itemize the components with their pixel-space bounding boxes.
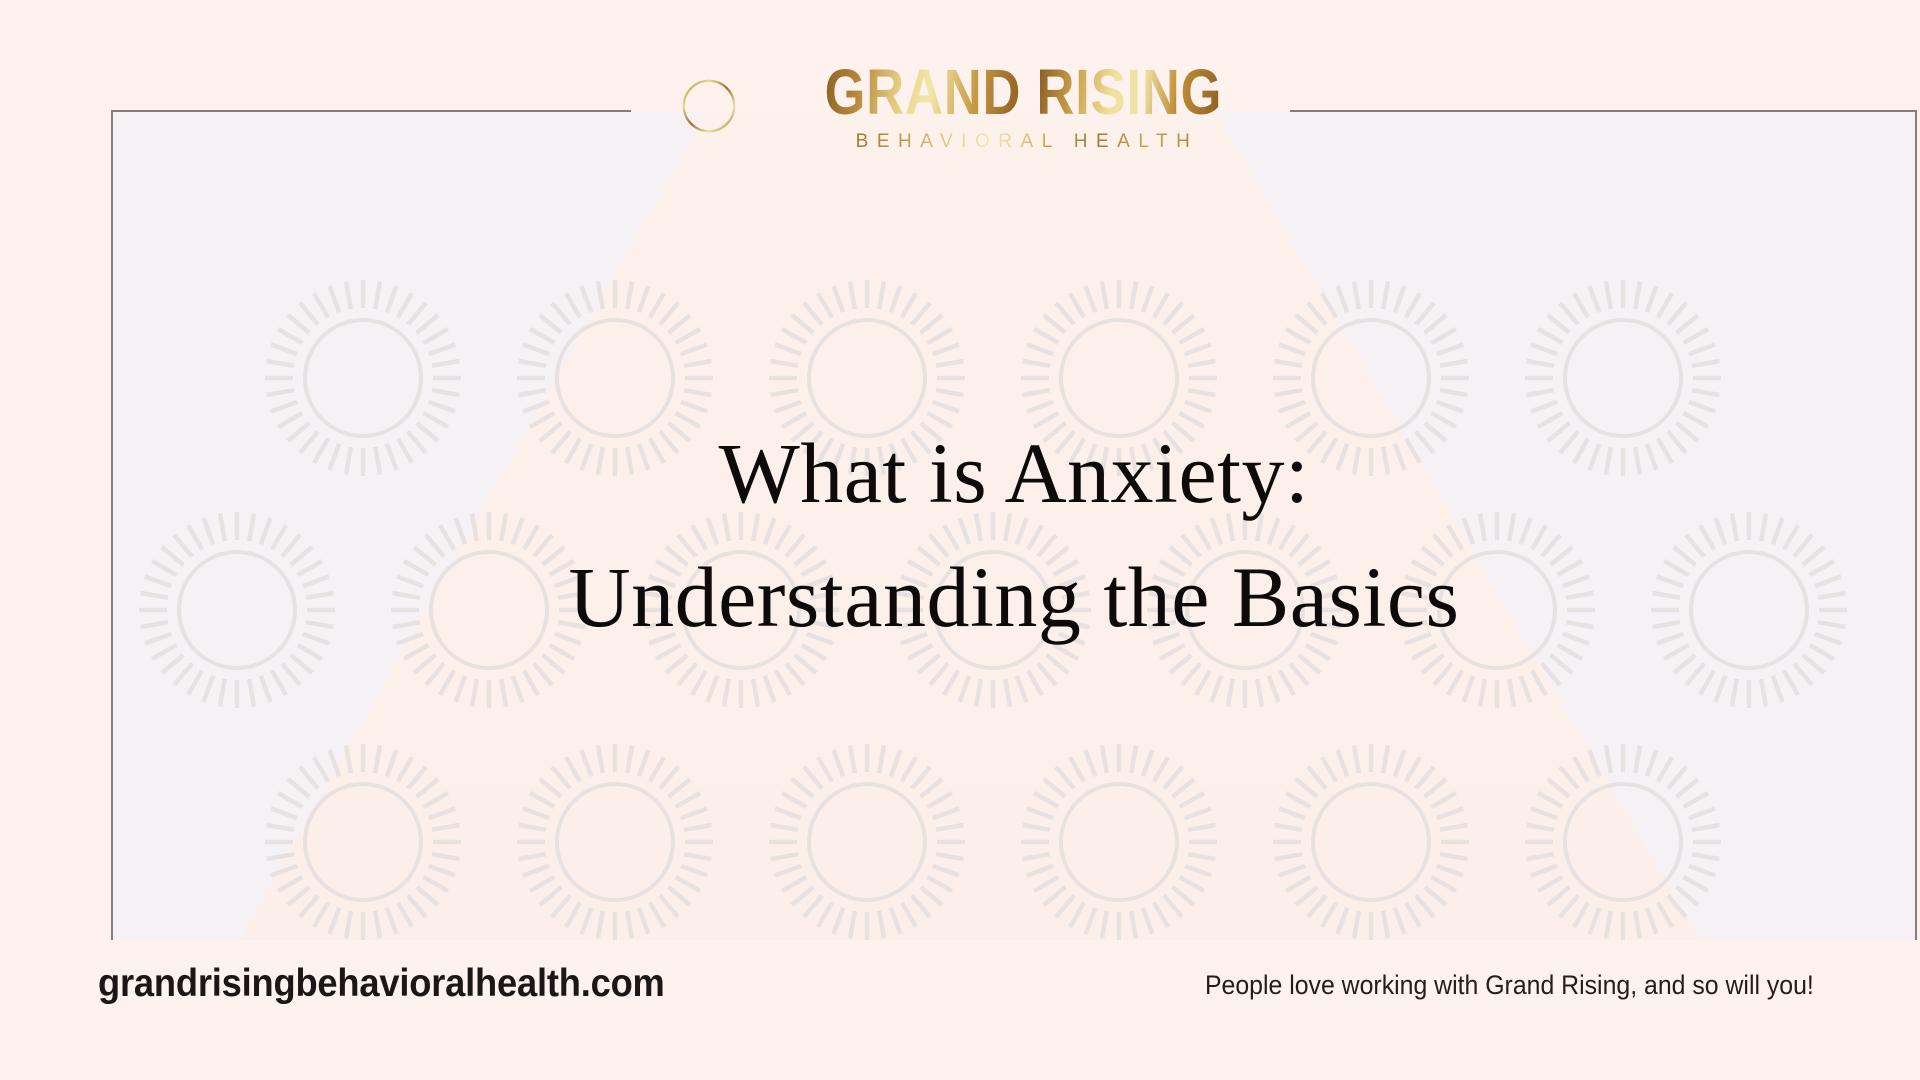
- logo-wordmark: GRAND RISING: [824, 63, 1222, 122]
- website-url[interactable]: grandrisingbehavioralhealth.com: [98, 962, 665, 1006]
- logo-sub-wordmark: BEHAVIORAL HEALTH: [856, 131, 1199, 153]
- page-title-line-2: Understanding the Basics: [111, 542, 1917, 654]
- footer-tagline: People love working with Grand Rising, a…: [1205, 970, 1814, 1001]
- page-title: What is Anxiety: Understanding the Basic…: [111, 418, 1917, 654]
- brand-logo: GRAND RISING BEHAVIORAL HEALTH: [0, 52, 1920, 160]
- page-title-line-1: What is Anxiety:: [111, 418, 1917, 530]
- sun-rising-icon: [655, 52, 763, 160]
- slide-canvas: GRAND RISING BEHAVIORAL HEALTH What is A…: [0, 0, 1920, 1080]
